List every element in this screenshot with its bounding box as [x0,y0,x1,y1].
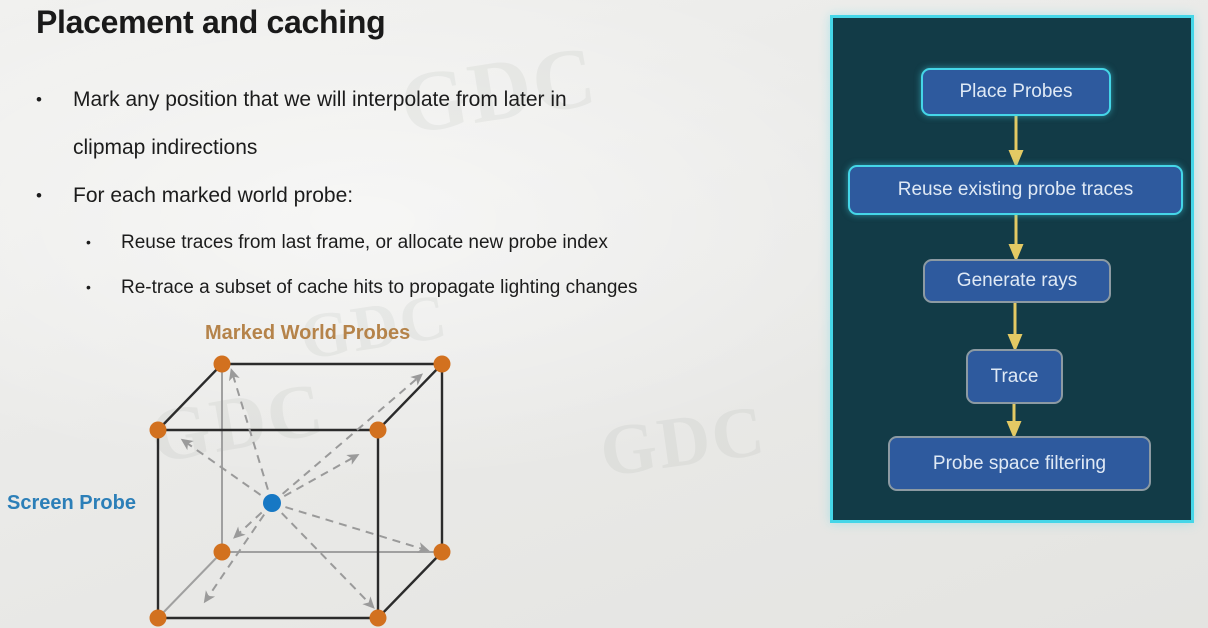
marked-world-probes-label: Marked World Probes [205,322,410,345]
world-probe-dot [434,356,451,373]
bullet-text: Reuse traces from last frame, or allocat… [121,220,806,265]
bullet-text: Mark any position that we will interpola… [73,76,806,124]
flow-step-probe-space-filtering[interactable]: Probe space filtering [888,436,1151,491]
bullet-item-4: • Reuse traces from last frame, or alloc… [36,220,806,265]
world-probe-dot [214,356,231,373]
flow-step-place-probes[interactable]: Place Probes [921,68,1111,116]
flow-step-trace[interactable]: Trace [966,349,1063,404]
bullet-marker: • [86,220,91,265]
world-probe-dots [150,356,451,627]
flow-step-label: Trace [991,366,1039,388]
bullet-marker: • [36,172,42,220]
flow-step-label: Generate rays [957,270,1077,292]
flow-step-label: Reuse existing probe traces [898,179,1134,201]
probe-cube-diagram [0,310,500,628]
bullet-list: • Mark any position that we will interpo… [36,76,806,310]
flow-step-reuse-existing-probe-traces[interactable]: Reuse existing probe traces [848,165,1183,215]
watermark-text: GDC [595,389,771,494]
world-probe-dot [370,422,387,439]
cube-hidden-edges [158,364,442,618]
pipeline-flow-panel: Place Probes Reuse existing probe traces… [830,15,1194,523]
probe-rays [184,372,426,606]
world-probe-dot [150,610,167,627]
world-probe-dot [214,544,231,561]
bullet-text: For each marked world probe: [73,172,806,220]
bullet-text: Re-trace a subset of cache hits to propa… [121,265,806,310]
screen-probe-label: Screen Probe [7,492,136,515]
bullet-item-5: • Re-trace a subset of cache hits to pro… [36,265,806,310]
screen-probe-dot [263,494,281,512]
world-probe-dot [370,610,387,627]
world-probe-dot [150,422,167,439]
bullet-item-3: • For each marked world probe: [36,172,806,220]
bullet-marker: • [36,76,42,124]
bullet-item-1: • Mark any position that we will interpo… [36,76,806,124]
flow-step-label: Probe space filtering [933,453,1106,475]
bullet-marker: • [86,265,91,310]
flow-step-label: Place Probes [959,81,1072,103]
slide-title: Placement and caching [36,4,385,41]
bullet-item-2: clipmap indirections [36,124,806,172]
slide-canvas: GDC GDC GDC GDC Placement and caching • … [0,0,1208,628]
world-probe-dot [434,544,451,561]
flow-step-generate-rays[interactable]: Generate rays [923,259,1111,303]
cube-edges [158,364,442,618]
bullet-text: clipmap indirections [73,124,806,172]
